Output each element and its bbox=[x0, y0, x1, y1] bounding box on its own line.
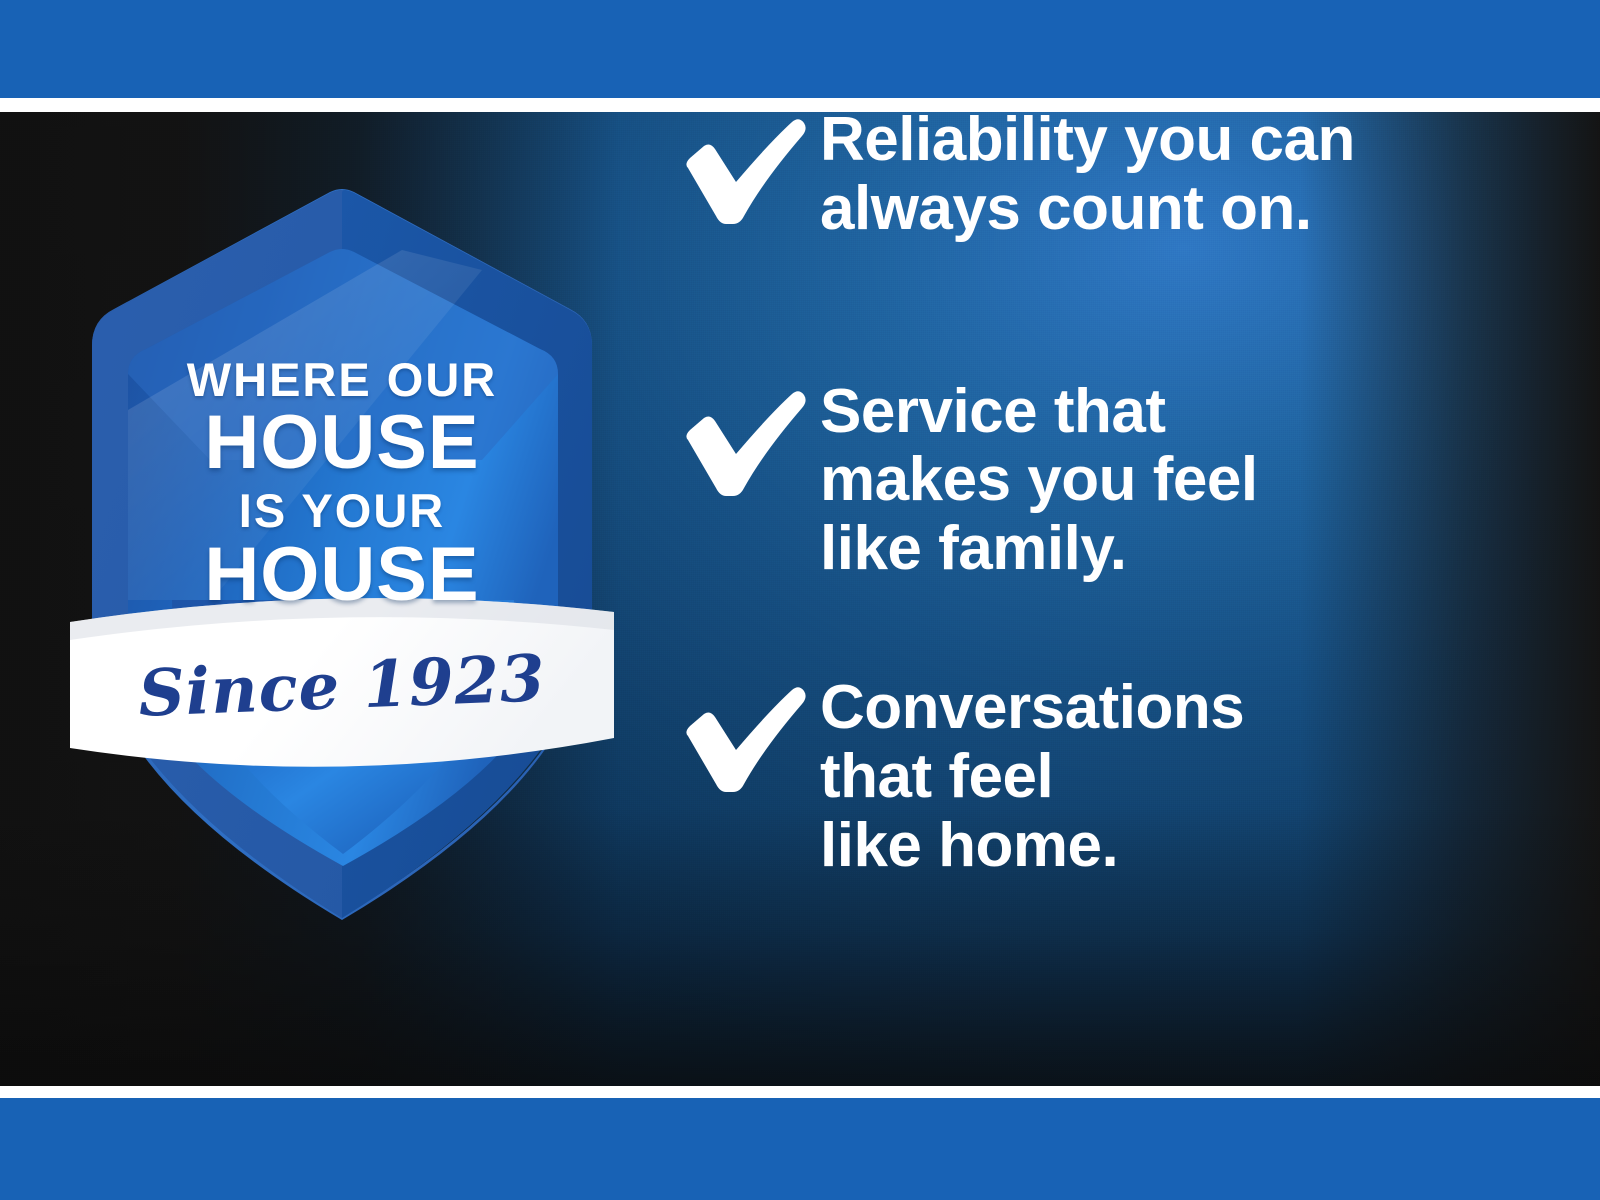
benefit-text: Reliability you can always count on. bbox=[820, 100, 1490, 244]
benefit-text: Conversations that feel like home. bbox=[820, 668, 1490, 880]
checkmark-icon bbox=[660, 674, 810, 804]
benefit-line: Service that bbox=[820, 378, 1490, 447]
shield-badge: WHERE OUR HOUSE IS YOUR HOUSE Since 1923 bbox=[62, 160, 622, 800]
benefit-line: Reliability you can bbox=[820, 106, 1490, 175]
benefit-text: Service that makes you feel like family. bbox=[820, 372, 1490, 584]
benefit-item: Conversations that feel like home. bbox=[660, 668, 1490, 880]
benefit-line: that feel bbox=[820, 743, 1490, 812]
benefit-line: always count on. bbox=[820, 175, 1490, 244]
top-brand-band bbox=[0, 0, 1600, 98]
benefit-item: Service that makes you feel like family. bbox=[660, 372, 1490, 584]
bottom-brand-band bbox=[0, 1098, 1600, 1200]
benefit-line: like home. bbox=[820, 812, 1490, 881]
benefit-line: makes you feel bbox=[820, 446, 1490, 515]
checkmark-icon bbox=[660, 106, 810, 236]
benefit-item: Reliability you can always count on. bbox=[660, 100, 1490, 244]
benefit-line: Conversations bbox=[820, 674, 1490, 743]
benefit-line: like family. bbox=[820, 515, 1490, 584]
benefit-list: Reliability you can always count on. Ser… bbox=[660, 100, 1490, 881]
promo-poster: WHERE OUR HOUSE IS YOUR HOUSE Since 1923… bbox=[0, 0, 1600, 1200]
checkmark-icon bbox=[660, 378, 810, 508]
